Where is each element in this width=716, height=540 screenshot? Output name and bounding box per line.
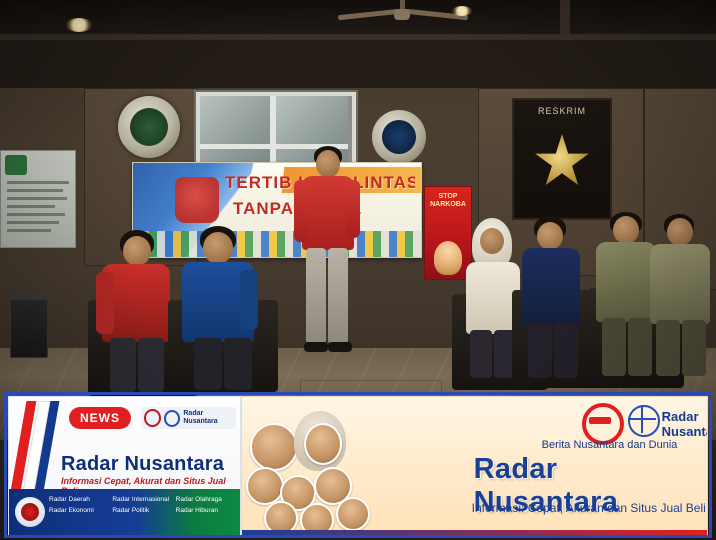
police-emblem-left <box>118 96 180 158</box>
lower-third-left-panel: NEWS Radar Nusantara Radar Nusantara Inf… <box>8 396 241 536</box>
mini-brand-label: Radar Nusantara <box>183 410 236 426</box>
person-seated-6 <box>648 214 716 374</box>
left-nav-band: Radar Daerah Radar Internasional Radar O… <box>9 489 241 535</box>
reskrim-board: RESKRIM <box>512 98 612 220</box>
presenter-face <box>336 497 370 531</box>
wall-notice-board <box>0 150 76 248</box>
ceiling-fan <box>348 0 458 30</box>
nav-item-5[interactable]: Radar Hiburan <box>176 506 235 515</box>
right-info-line: Informasi: Cepat, Akuran dan Situs Jual … <box>472 501 706 515</box>
person-seated-2 <box>178 226 264 388</box>
globe-icon <box>628 405 660 437</box>
right-brand-small: Radar Nusantara <box>662 409 708 439</box>
presenter-face <box>250 423 298 471</box>
bottom-rule <box>242 530 708 535</box>
ceiling-beam-right <box>560 0 570 40</box>
left-title: Radar Nusantara <box>61 453 224 476</box>
nav-item-1[interactable]: Radar Internasional <box>112 495 171 504</box>
star-badge-icon <box>534 134 590 190</box>
nav-item-3[interactable]: Radar Ekonomi <box>49 506 108 515</box>
presenter-face <box>304 423 342 465</box>
radar-nusantara-logo-icon <box>582 403 616 437</box>
band-logo-icon <box>15 497 45 527</box>
mini-brand-badge: Radar Nusantara <box>141 407 236 429</box>
lower-third-overlay: NEWS Radar Nusantara Radar Nusantara Inf… <box>8 396 708 534</box>
person-speaker <box>292 146 362 366</box>
rollup-text: STOP NARKOBA <box>427 193 469 209</box>
downlight-1 <box>66 18 92 32</box>
screenshot-root: RESKRIM TERTIB LALU LINTAS TANPA PAKSA S… <box>0 0 716 540</box>
trash-bin <box>10 296 48 358</box>
magnifier-icon <box>144 409 161 427</box>
right-tagline: Berita Nusantara dan Dunia <box>542 439 678 451</box>
lower-third-right-panel: Radar Nusantara Berita Nusantara dan Dun… <box>241 396 708 536</box>
wall-dark-band <box>0 40 716 88</box>
nav-links: Radar Daerah Radar Internasional Radar O… <box>49 495 235 515</box>
reskrim-label: RESKRIM <box>514 106 610 116</box>
presenter-photo-collage <box>242 397 374 535</box>
police-emblem-right <box>372 110 426 164</box>
presenter-face <box>246 467 284 505</box>
nav-item-4[interactable]: Radar Politik <box>112 506 171 515</box>
downlight-4 <box>452 6 472 16</box>
globe-small-icon <box>164 410 180 427</box>
news-badge: NEWS <box>69 407 131 429</box>
nav-item-2[interactable]: Radar Olahraga <box>176 495 235 504</box>
nav-item-0[interactable]: Radar Daerah <box>49 495 108 504</box>
person-seated-4 <box>516 216 588 378</box>
